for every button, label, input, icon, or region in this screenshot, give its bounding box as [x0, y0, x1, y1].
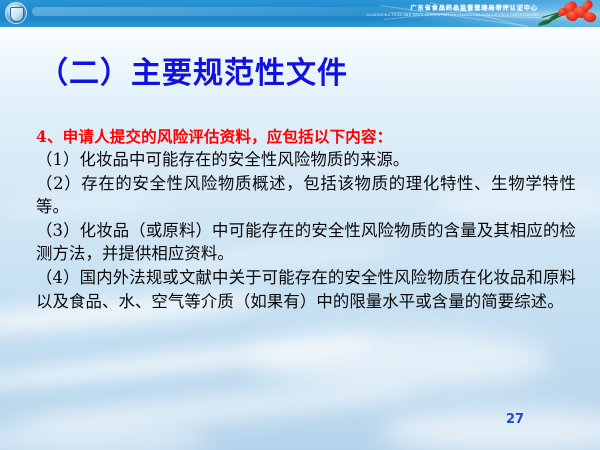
cloud-streak	[0, 330, 380, 396]
organization-name-cn: 广东省食品药品监督管理局审评认证中心	[410, 3, 538, 12]
cloud-puff	[380, 408, 600, 450]
body-paragraph-3: （3）化妆品（或原料）中可能存在的安全性风险物质的含量及其相应的检测方法，并提供…	[36, 219, 576, 266]
body-paragraph-4: （4）国内外法规或文献中关于可能存在的安全性风险物质在化妆品和原料以及食品、水、…	[36, 266, 576, 313]
slide-body: 4、申请人提交的风险评估资料，应包括以下内容： （1）化妆品中可能存在的安全性风…	[36, 125, 576, 313]
flower-petal	[582, 10, 598, 24]
banner-highlight	[32, 7, 422, 16]
body-paragraph-2: （2）存在的安全性风险物质概述，包括该物质的理化特性、生物学特性等。	[36, 172, 576, 219]
agency-emblem-icon	[5, 2, 27, 24]
slide-header-banner: 广东省食品药品监督管理局审评认证中心 GUANGDONG FOOD AND DR…	[0, 0, 600, 27]
page-number: 27	[506, 412, 524, 427]
cloud-puff	[0, 420, 210, 450]
body-paragraph-1: （1）化妆品中可能存在的安全性风险物质的来源。	[36, 148, 576, 172]
cloud-puff	[250, 330, 550, 390]
section-heading: 4、申请人提交的风险评估资料，应包括以下内容：	[36, 125, 576, 148]
cloud-streak	[20, 378, 421, 439]
presentation-slide: 广东省食品药品监督管理局审评认证中心 GUANGDONG FOOD AND DR…	[0, 0, 600, 450]
slide-title: （二）主要规范性文件	[38, 48, 348, 92]
flower-leaf	[538, 19, 553, 26]
emblem-shield	[10, 7, 24, 22]
red-flower-decoration-icon	[536, 0, 598, 27]
organization-name-en: GUANGDONG FOOD AND DRUG ADMINISTRATION C…	[366, 13, 538, 17]
